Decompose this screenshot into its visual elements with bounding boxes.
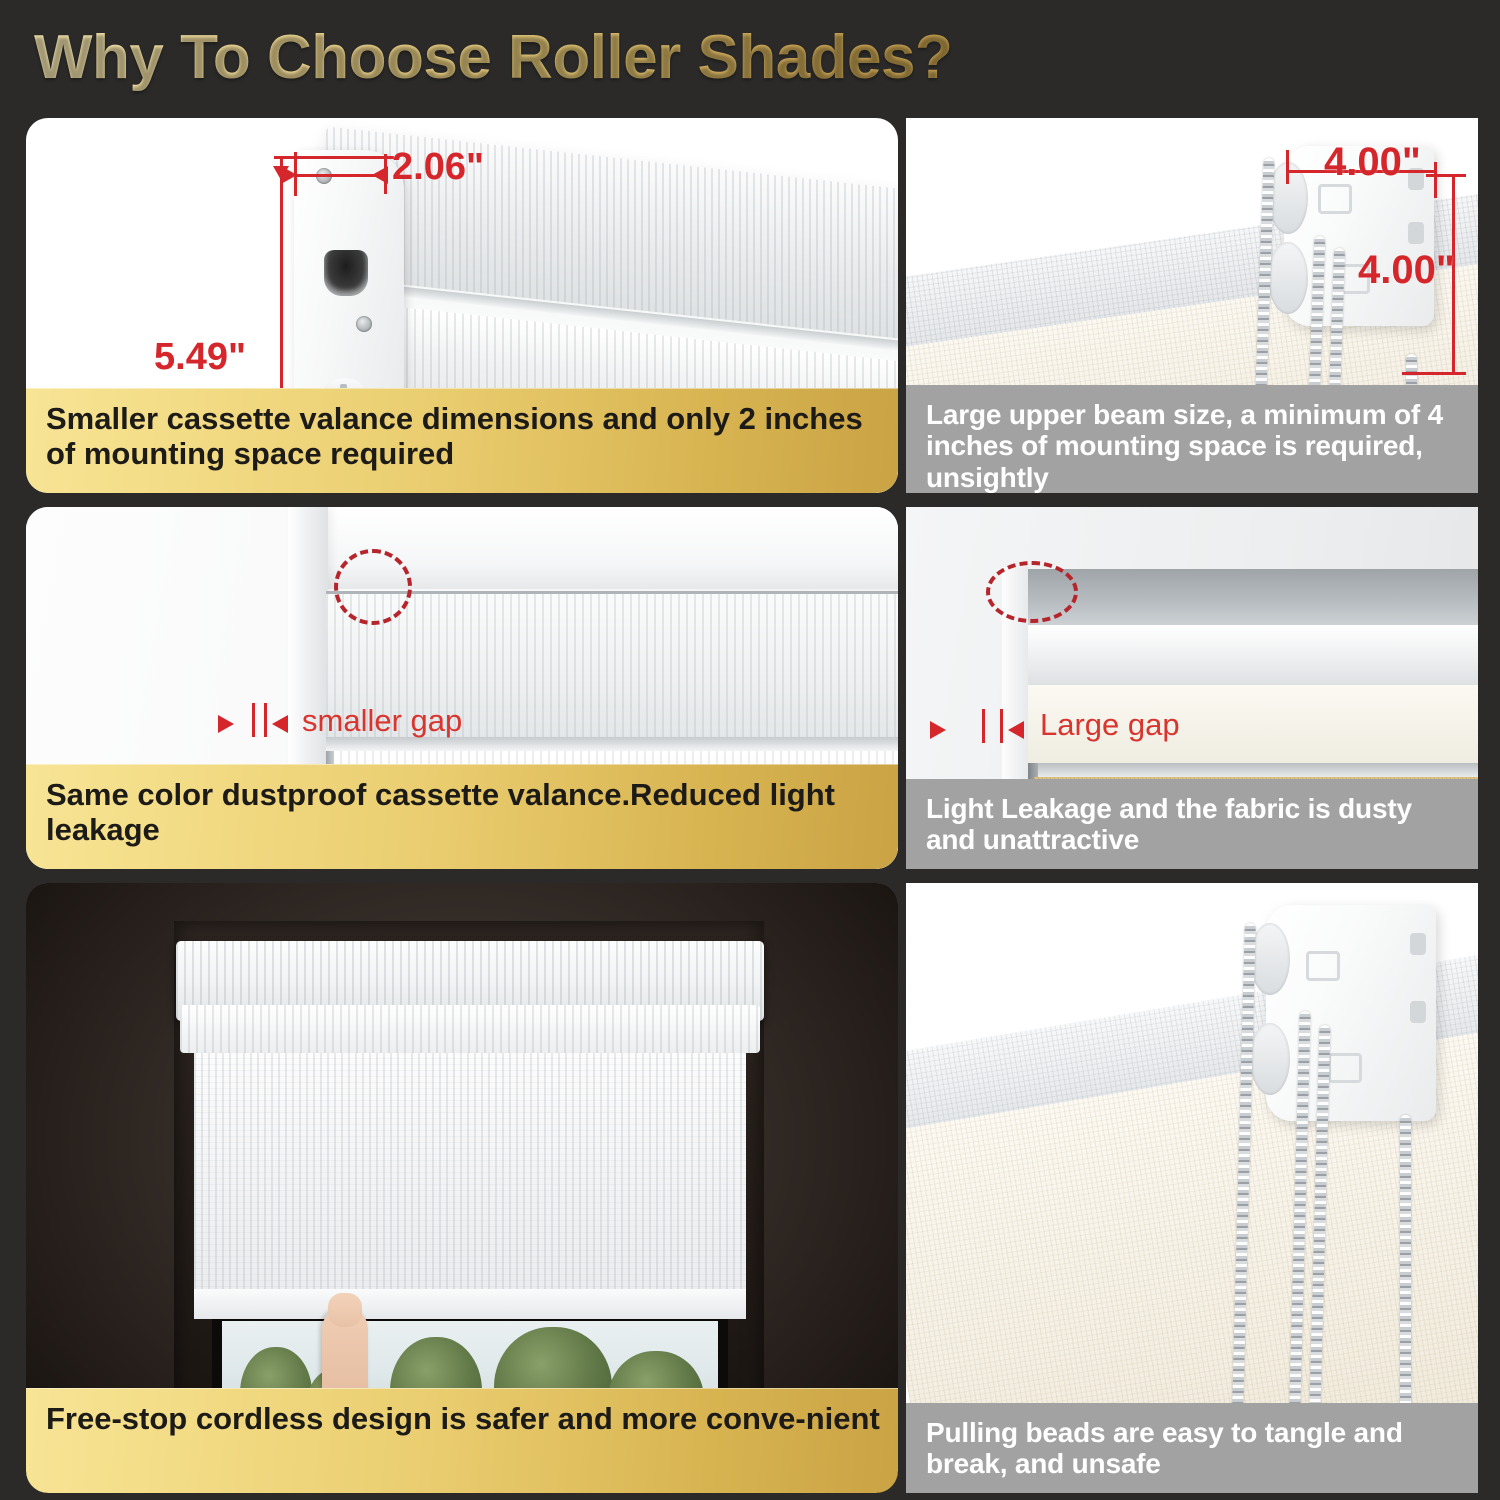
bracket-notch-bottom-icon [1408, 222, 1424, 244]
beam-height-tick-bottom [1402, 372, 1466, 375]
caption-pulling-beads-unsafe: Pulling beads are easy to tangle and bre… [906, 1403, 1478, 1493]
small-gap-tick-1 [252, 703, 255, 737]
width-dim-arrow-right-icon [372, 166, 388, 184]
beam-width-tick-right [1434, 162, 1437, 198]
end-cap-screw-icon [356, 316, 372, 332]
panel-smaller-cassette-valance[interactable]: 2.06" 5.49" Smaller cassette valance dim… [26, 118, 898, 493]
bracket-logo-glyph-icon [1306, 951, 1340, 981]
panel-free-stop-cordless[interactable]: Free-stop cordless design is safer and m… [26, 883, 898, 1493]
small-gap-tick-2 [264, 703, 267, 737]
beam-height-label: 4.00" [1358, 248, 1455, 293]
bracket-disc-top-icon [1250, 923, 1290, 995]
panel-large-upper-beam[interactable]: 4.00" 4.00" Large upper beam size, a min… [906, 118, 1478, 493]
bracket-notch-bottom-icon [1410, 1001, 1426, 1023]
caption-light-leakage-dusty: Light Leakage and the fabric is dusty an… [906, 779, 1478, 869]
large-gap-tick-1 [982, 709, 985, 743]
upper-beam-rod [1028, 763, 1478, 777]
page-title: Why To Choose Roller Shades? [34, 22, 952, 93]
upper-beam-tube [1028, 625, 1478, 689]
upper-beam-top-face [1028, 569, 1478, 627]
large-gap-arrow-right-icon [1008, 721, 1024, 739]
bracket-logo-glyph-icon [1318, 184, 1352, 214]
bracket-logo-glyph-2-icon [1328, 1053, 1362, 1083]
small-gap-arrow-left-icon [218, 715, 234, 733]
small-gap-label: smaller gap [302, 703, 462, 739]
caption-smaller-cassette-valance: Smaller cassette valance dimensions and … [26, 388, 898, 493]
panel-pulling-beads-unsafe[interactable]: Pulling beads are easy to tangle and bre… [906, 883, 1478, 1493]
caption-dustproof-cassette-valance: Same color dustproof cassette valance.Re… [26, 764, 898, 869]
bracket-disc-bottom-icon [1268, 242, 1308, 314]
large-gap-label: Large gap [1040, 707, 1180, 743]
caption-large-upper-beam: Large upper beam size, a minimum of 4 in… [906, 385, 1478, 493]
cassette-valance-lower [180, 1005, 760, 1053]
large-gap-tick-2 [1000, 709, 1003, 743]
small-gap-arrow-right-icon [272, 715, 288, 733]
bead-chain-4[interactable] [1400, 1115, 1411, 1445]
gap-highlight-circle-icon [334, 549, 412, 625]
beam-height-tick-top [1426, 174, 1466, 177]
height-dim-tick-top [274, 156, 394, 159]
roller-shade-fabric [194, 1051, 746, 1299]
panel-dustproof-cassette-valance[interactable]: smaller gap Same color dustproof cassett… [26, 507, 898, 869]
bracket-disc-bottom-icon [1250, 1023, 1290, 1095]
beam-width-tick-left [1286, 150, 1289, 184]
shade-bracket [1266, 905, 1436, 1121]
product-illustration-bead-chains [906, 883, 1478, 1493]
beam-width-label: 4.00" [1324, 140, 1421, 185]
comparison-grid: 2.06" 5.49" Smaller cassette valance dim… [0, 112, 1500, 1500]
caption-free-stop-cordless: Free-stop cordless design is safer and m… [26, 1388, 898, 1493]
roller-shade-bottom-rail [194, 1289, 746, 1319]
panel-light-leakage-dusty[interactable]: Large gap Light Leakage and the fabric i… [906, 507, 1478, 869]
bracket-notch-top-icon [1410, 933, 1426, 955]
width-dimension-label: 2.06" [392, 146, 484, 189]
large-gap-arrow-left-icon [930, 721, 946, 739]
end-cap-slot-icon [324, 250, 368, 296]
header-bar: Why To Choose Roller Shades? [0, 0, 1500, 112]
cassette-valance-lip [326, 737, 898, 751]
gap-highlight-circle-icon [986, 561, 1078, 623]
height-dimension-label: 5.49" [154, 336, 246, 379]
height-dim-arrow-top-icon [273, 166, 289, 180]
